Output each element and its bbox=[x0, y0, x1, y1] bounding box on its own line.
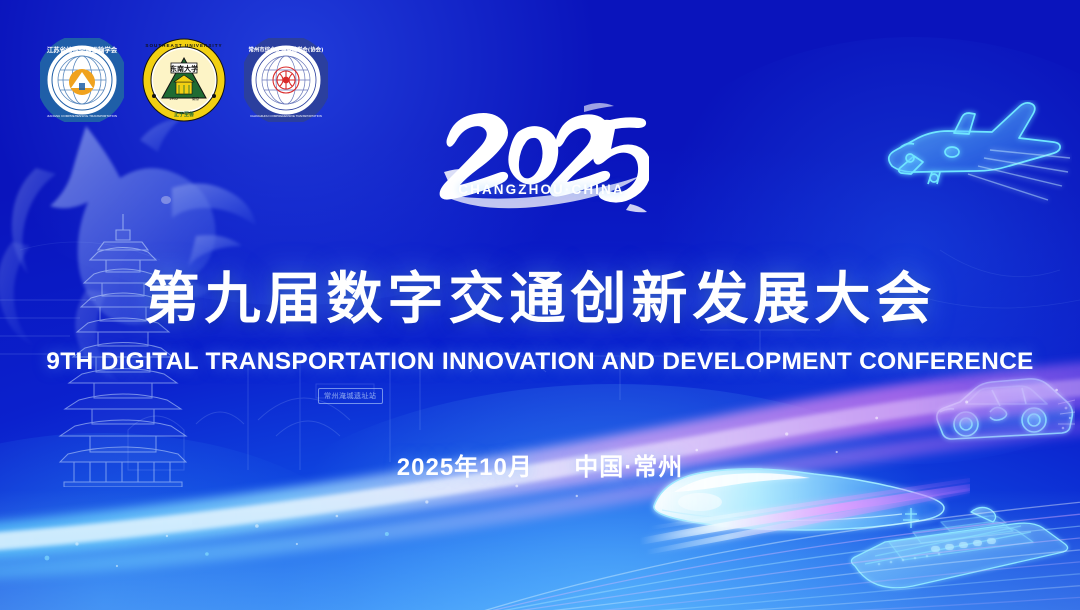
jiangsu-transportation-society-logo: 江苏省综合交通运输学会 JIANGSU COMPREHENSIVE TRANSP… bbox=[40, 38, 124, 122]
svg-text:JIANGSU COMPREHENSIVE TRANSPOR: JIANGSU COMPREHENSIVE TRANSPORTATION bbox=[47, 114, 117, 118]
event-location: 中国·常州 bbox=[574, 454, 683, 481]
organizer-logo-row: 江苏省综合交通运输学会 JIANGSU COMPREHENSIVE TRANSP… bbox=[40, 38, 328, 122]
event-meta: 2025年10月 中国·常州 bbox=[0, 447, 1080, 482]
wave-lines-decoration bbox=[454, 470, 1080, 610]
svg-text:江苏省综合交通运输学会: 江苏省综合交通运输学会 bbox=[47, 45, 118, 54]
svg-text:南京: 南京 bbox=[192, 96, 200, 101]
year-2025-calligraphy bbox=[434, 98, 649, 218]
airplane-icon bbox=[862, 100, 1072, 215]
station-sign: 常州淹城遗址站 bbox=[318, 388, 383, 404]
svg-text:SOUTHEAST UNIVERSITY: SOUTHEAST UNIVERSITY bbox=[145, 43, 222, 48]
changzhou-transportation-society-logo: 常州市综合交通运输学会(协会) CHANGZHOU COMPREHENSIVE … bbox=[244, 38, 328, 122]
year-brush-logo: CHANGZHOU·CHINA bbox=[434, 98, 649, 218]
svg-text:常州市综合交通运输学会(协会): 常州市综合交通运输学会(协会) bbox=[248, 46, 323, 54]
brand-city-line: CHANGZHOU·CHINA bbox=[434, 182, 649, 197]
page-title: 第九届数字交通创新发展大会 bbox=[0, 272, 1080, 328]
svg-text:东南大学: 东南大学 bbox=[170, 64, 198, 73]
southeast-university-logo: 东南大学 SOUTHEAST UNIVERSITY 1902 南京 止于至善 bbox=[142, 38, 226, 122]
svg-text:止于至善: 止于至善 bbox=[174, 111, 194, 118]
svg-text:1902: 1902 bbox=[169, 97, 178, 101]
page-subtitle: 9TH DIGITAL TRANSPORTATION INNOVATION AN… bbox=[0, 348, 1080, 376]
event-date: 2025年10月 bbox=[397, 454, 533, 481]
conference-poster: 江苏省综合交通运输学会 JIANGSU COMPREHENSIVE TRANSP… bbox=[0, 0, 1080, 610]
svg-text:CHANGZHOU COMPREHENSIVE TRANSP: CHANGZHOU COMPREHENSIVE TRANSPORTATION bbox=[250, 114, 322, 118]
